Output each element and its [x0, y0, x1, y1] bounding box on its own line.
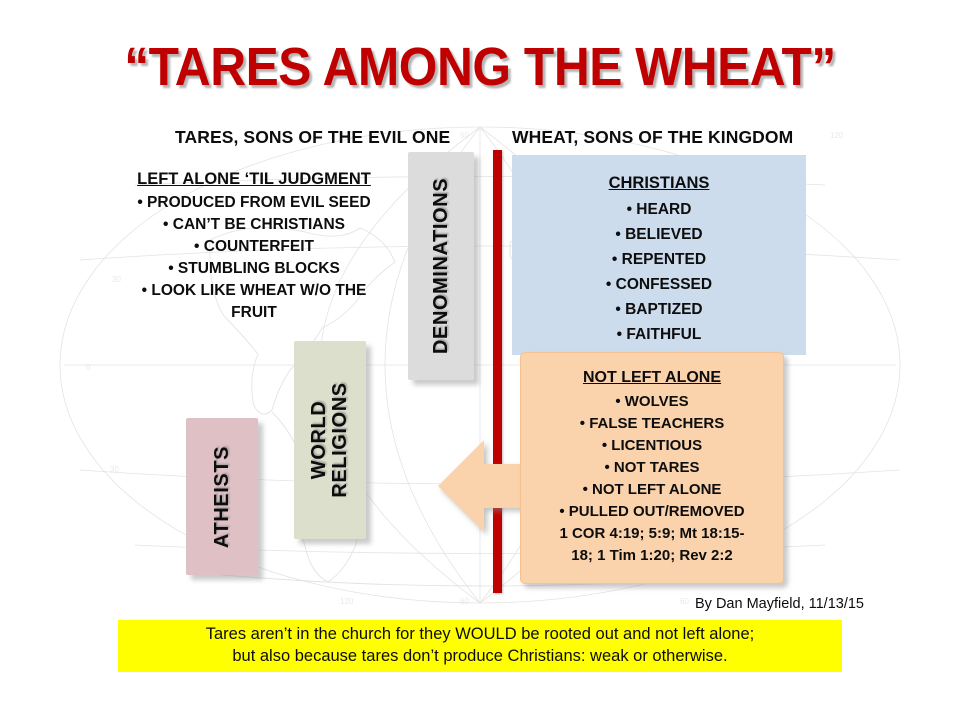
category-label-world-religions: WORLD RELIGIONS — [309, 382, 351, 497]
tares-list-item: FRUIT — [110, 302, 398, 324]
wheat-list-item: • BAPTIZED — [512, 297, 806, 322]
not-left-alone-item: • FALSE TEACHERS — [514, 413, 790, 435]
not-left-alone-item: • LICENTIOUS — [514, 435, 790, 457]
slide-title: “TARES AMONG THE WHEAT” — [38, 36, 921, 98]
tares-list-heading: LEFT ALONE ‘TIL JUDGMENT — [110, 168, 398, 191]
tares-list-item: • LOOK LIKE WHEAT W/O THE — [110, 280, 398, 302]
tares-list-item: • PRODUCED FROM EVIL SEED — [110, 192, 398, 214]
column-header-tares: TARES, SONS OF THE EVIL ONE — [175, 127, 450, 148]
category-box-world-religions: WORLD RELIGIONS — [294, 341, 366, 539]
not-left-alone-item: • NOT LEFT ALONE — [514, 479, 790, 501]
svg-text:0: 0 — [86, 363, 91, 372]
scripture-reference: 1 COR 4:19; 5:9; Mt 18:15- — [514, 523, 790, 545]
column-header-wheat: WHEAT, SONS OF THE KINGDOM — [512, 127, 793, 148]
footer-line-2: but also because tares don’t produce Chr… — [206, 646, 754, 668]
not-left-alone-item: • PULLED OUT/REMOVED — [514, 501, 790, 523]
category-label-line1: WORLD — [308, 401, 330, 480]
wheat-list-item: • FAITHFUL — [512, 322, 806, 347]
tares-list-item: • CAN’T BE CHRISTIANS — [110, 214, 398, 236]
svg-text:120: 120 — [340, 597, 354, 606]
footer-text: Tares aren’t in the church for they WOUL… — [196, 624, 764, 668]
slide-canvas: 30 0 30 120 60 60 120 120 60 60 120 “TAR… — [0, 0, 960, 720]
svg-text:60: 60 — [460, 131, 469, 140]
svg-text:60: 60 — [460, 597, 469, 606]
not-left-alone-list: NOT LEFT ALONE • WOLVES • FALSE TEACHERS… — [514, 366, 790, 567]
category-box-atheists: ATHEISTS — [186, 418, 258, 575]
footer-banner: Tares aren’t in the church for they WOUL… — [118, 620, 842, 672]
tares-list-item: • STUMBLING BLOCKS — [110, 258, 398, 280]
category-label-denominations: DENOMINATIONS — [430, 178, 452, 354]
category-label-line2: RELIGIONS — [329, 382, 351, 497]
wheat-list: CHRISTIANS • HEARD • BELIEVED • REPENTED… — [512, 170, 806, 347]
not-left-alone-item: • WOLVES — [514, 391, 790, 413]
wheat-list-item: • REPENTED — [512, 247, 806, 272]
scripture-reference: 18; 1 Tim 1:20; Rev 2:2 — [514, 545, 790, 567]
svg-text:120: 120 — [830, 131, 844, 140]
wheat-list-item: • CONFESSED — [512, 272, 806, 297]
wheat-list-item: • HEARD — [512, 197, 806, 222]
tares-list: LEFT ALONE ‘TIL JUDGMENT • PRODUCED FROM… — [110, 168, 398, 324]
not-left-alone-item: • NOT TARES — [514, 457, 790, 479]
wheat-list-item: • BELIEVED — [512, 222, 806, 247]
attribution-text: By Dan Mayfield, 11/13/15 — [695, 596, 864, 612]
svg-text:30: 30 — [110, 465, 119, 474]
category-label-atheists: ATHEISTS — [211, 445, 233, 547]
wheat-list-heading: CHRISTIANS — [512, 170, 806, 197]
tares-list-item: • COUNTERFEIT — [110, 236, 398, 258]
category-box-denominations: DENOMINATIONS — [408, 152, 474, 380]
svg-text:60: 60 — [680, 597, 689, 606]
not-left-alone-heading: NOT LEFT ALONE — [514, 366, 790, 390]
footer-line-1: Tares aren’t in the church for they WOUL… — [206, 624, 754, 646]
